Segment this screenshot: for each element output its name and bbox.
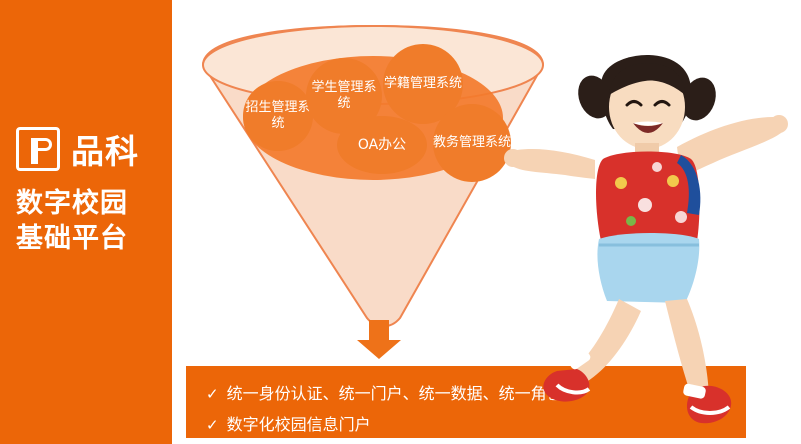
results-item-2-label: 数字化校园信息门户 — [227, 415, 371, 434]
funnel-bubble-oa-label: OA办公 — [358, 137, 406, 153]
brand-row: 品科 — [16, 125, 139, 173]
funnel-bubble-zhaosheng[interactable]: 招生管理系统 — [243, 81, 313, 151]
funnel-bubble-xuesheng-label: 学生管理系统 — [306, 80, 382, 112]
funnel-bubble-zhaosheng-label: 招生管理系统 — [243, 100, 313, 132]
panel-title-line2: 基础平台 — [16, 221, 128, 256]
brand-name: 品科 — [71, 125, 139, 173]
pinke-logo-icon — [16, 127, 60, 171]
left-brand-panel: 品科 数字校园 基础平台 — [0, 0, 172, 444]
down-arrow-icon — [355, 320, 403, 365]
panel-title: 数字校园 基础平台 — [16, 186, 128, 256]
results-item-2: ✓数字化校园信息门户 — [206, 411, 371, 435]
funnel-bubble-xueji-label: 学籍管理系统 — [384, 76, 462, 92]
slide-canvas: 品科 数字校园 基础平台 招生管理系统 学生管理系统 学籍管理系统 教务管理系统 — [0, 0, 801, 444]
check-icon: ✓ — [206, 385, 219, 403]
funnel-bubble-oa[interactable]: OA办公 — [337, 116, 427, 174]
smiling-girl-arms-open-photo — [495, 55, 801, 444]
check-icon: ✓ — [206, 416, 219, 434]
panel-title-line1: 数字校园 — [16, 186, 128, 221]
